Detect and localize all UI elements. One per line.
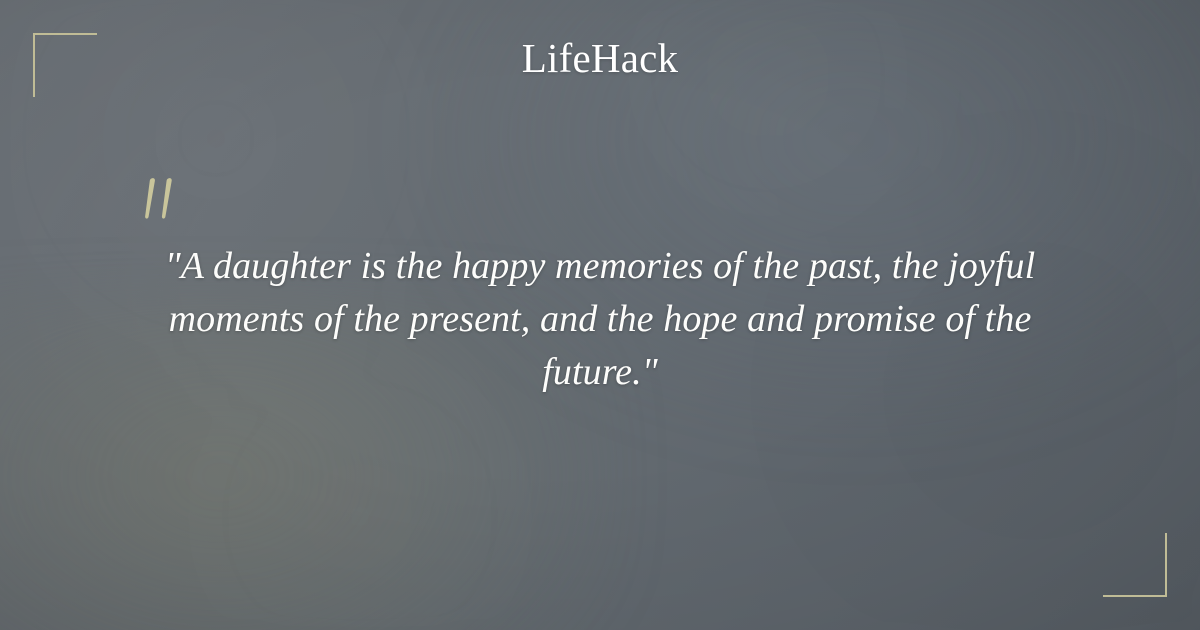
quote-block: "A daughter is the happy memories of the… bbox=[132, 240, 1068, 399]
brand-logo: LifeHack bbox=[0, 38, 1200, 79]
brand-name: LifeHack bbox=[522, 38, 678, 79]
quote-text: "A daughter is the happy memories of the… bbox=[132, 240, 1068, 399]
corner-bracket-bottom-right-icon bbox=[1103, 533, 1167, 597]
quote-card: LifeHack "A daughter is the happy memori… bbox=[0, 0, 1200, 630]
double-quote-icon bbox=[136, 176, 190, 222]
